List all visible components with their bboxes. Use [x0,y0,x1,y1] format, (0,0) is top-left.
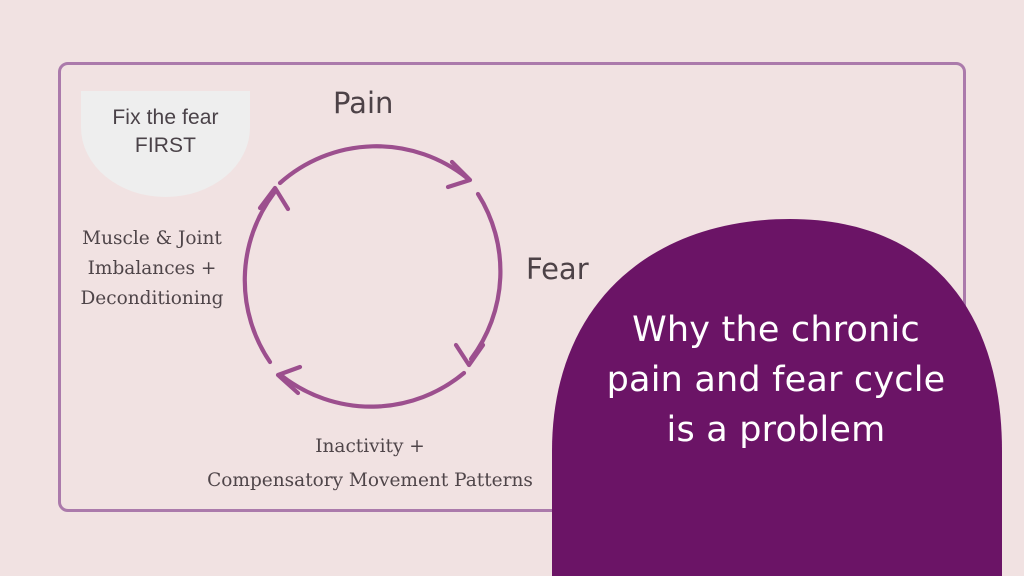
fix-the-fear-callout-text: Fix the fear FIRST [81,104,250,160]
arc-left [245,193,274,362]
imbalances-line-3: Deconditioning [80,288,223,309]
cycle-node-label-imbalances: Muscle & Joint Imbalances + Deconditioni… [62,224,242,314]
arrowhead-left [260,188,288,209]
imbalances-line-1: Muscle & Joint [82,228,222,249]
callout-line-2: FIRST [135,134,196,157]
arrowhead-right [456,345,483,365]
cycle-arrows-diagram [228,126,518,418]
callout-line-1: Fix the fear [112,106,218,129]
cycle-node-label-pain: Pain [333,86,393,120]
headline-line-2: pain and fear cycle [566,355,986,405]
overlay-headline: Why the chronic pain and fear cycle is a… [566,305,986,455]
inactivity-line-1: Inactivity + [315,436,425,457]
headline-line-3: is a problem [566,405,986,455]
arc-top [280,146,467,183]
arc-bottom [282,373,464,407]
inactivity-line-2: Compensatory Movement Patterns [207,470,533,491]
headline-line-1: Why the chronic [566,305,986,355]
slide-canvas: Fix the fear FIRST Muscle & Joint Imbala… [0,0,1024,576]
imbalances-line-2: Imbalances + [88,258,217,279]
arc-right [471,194,500,359]
cycle-node-label-inactivity: Inactivity + Compensatory Movement Patte… [140,430,600,498]
